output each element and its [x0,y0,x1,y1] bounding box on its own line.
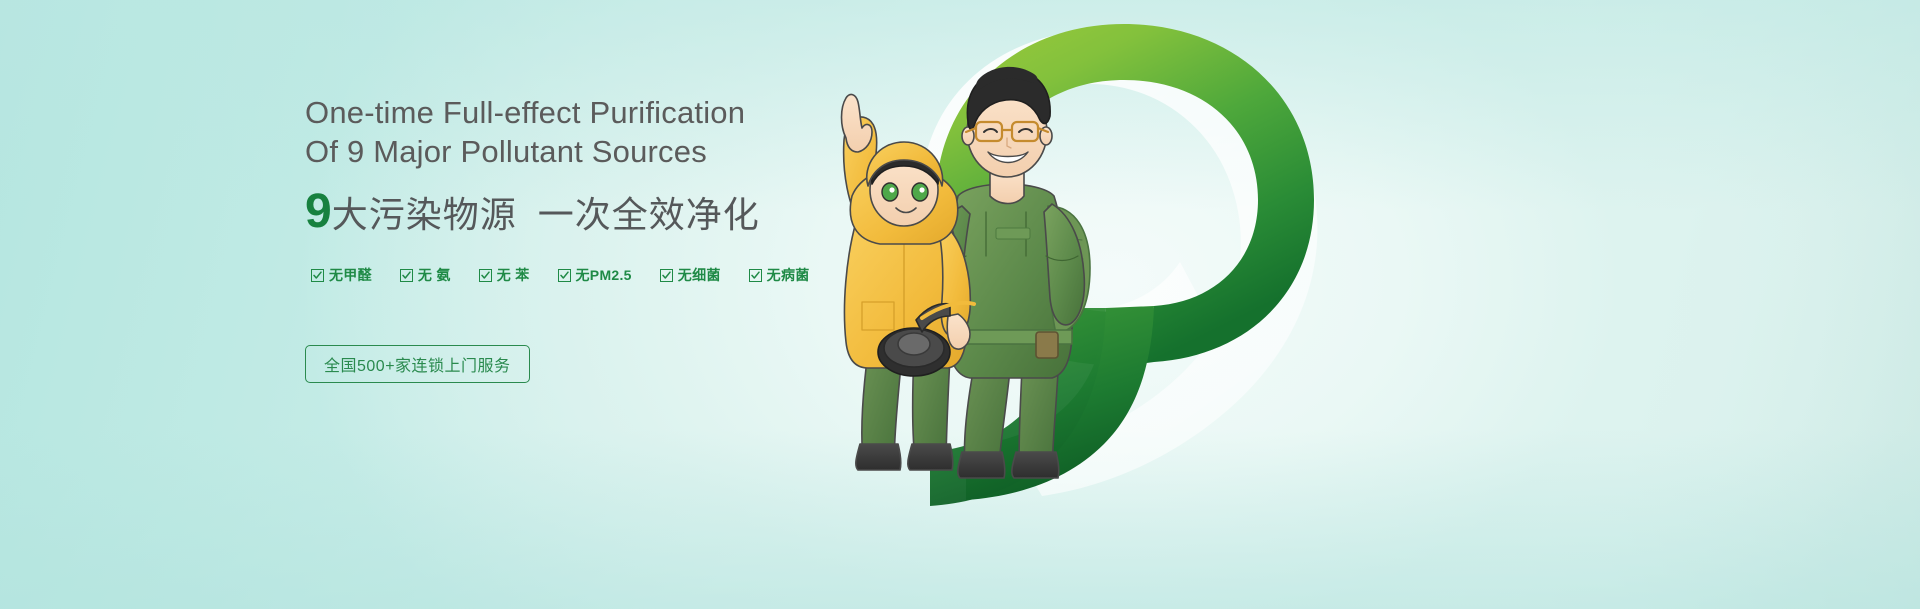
feature-badge-list: 无甲醛 无 氨 无 苯 无PM2.5 [311,265,810,285]
promo-banner: One-time Full-effect Purification Of 9 M… [0,0,1920,609]
feature-badge: 无细菌 [660,265,721,285]
headline-cn-part2: 一次全效净化 [538,197,760,233]
feature-badge: 无甲醛 [311,265,372,285]
chinese-headline: 9 大污染物源 一次全效净化 [305,188,760,236]
feature-label: 无 氨 [418,265,451,285]
checkbox-tick-icon [660,269,673,282]
feature-badge: 无病菌 [749,265,810,285]
headline-number-nine: 9 [305,188,331,236]
service-cta-button[interactable]: 全国500+家连锁上门服务 [305,345,530,383]
banner-content: One-time Full-effect Purification Of 9 M… [305,0,1125,609]
checkbox-tick-icon [479,269,492,282]
feature-label: 无细菌 [678,265,721,285]
feature-label: 无甲醛 [329,265,372,285]
headline-cn-part1: 大污染物源 [332,197,517,233]
checkbox-tick-icon [749,269,762,282]
feature-badge: 无PM2.5 [558,265,632,285]
checkbox-tick-icon [558,269,571,282]
checkbox-tick-icon [311,269,324,282]
feature-badge: 无 苯 [479,265,530,285]
english-headline: One-time Full-effect Purification Of 9 M… [305,93,1005,171]
feature-label: 无 苯 [497,265,530,285]
feature-badge: 无 氨 [400,265,451,285]
feature-label: 无病菌 [767,265,810,285]
feature-label: 无PM2.5 [576,265,632,285]
checkbox-tick-icon [400,269,413,282]
